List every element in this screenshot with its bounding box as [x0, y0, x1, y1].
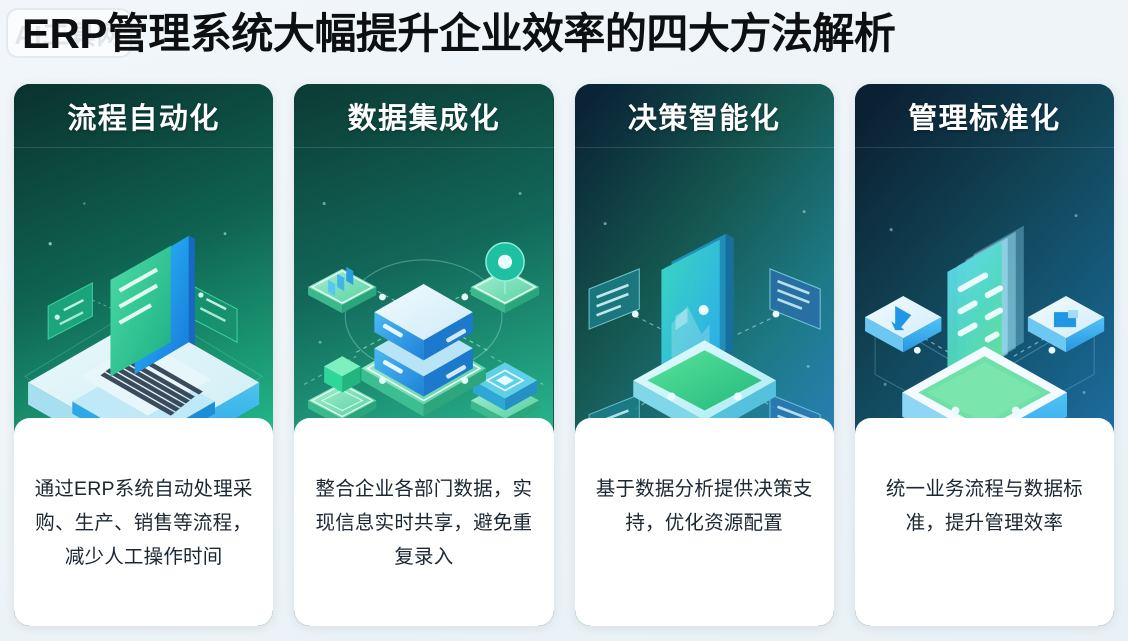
header-divider	[14, 147, 273, 148]
card-management-standardization[interactable]: 管理标准化 统一业务流程与数据标准，提升管理效率	[855, 84, 1114, 626]
card-process-automation[interactable]: 流程自动化 通过ERP系统自动处理采购、生产、销售等流程，减少人工操作时间	[14, 84, 273, 626]
card-caption: 整合企业各部门数据，实现信息实时共享，避免重复录入	[312, 472, 535, 574]
card-data-integration[interactable]: 数据集成化 整合企业各部门数据，实现信息实时共享，避免重复录入	[294, 84, 553, 626]
card-header-process-automation: 流程自动化	[14, 84, 273, 148]
caption-panel: 统一业务流程与数据标准，提升管理效率	[855, 418, 1114, 626]
card-decision-intelligence[interactable]: 决策智能化 基于数据分析提供决策支持，优化资源配置	[575, 84, 834, 626]
card-caption: 通过ERP系统自动处理采购、生产、销售等流程，减少人工操作时间	[32, 472, 255, 574]
page-title: ERP管理系统大幅提升企业效率的四大方法解析	[22, 9, 895, 59]
header-divider	[294, 147, 553, 148]
caption-panel: 通过ERP系统自动处理采购、生产、销售等流程，减少人工操作时间	[14, 418, 273, 626]
card-title: 决策智能化	[628, 95, 781, 137]
card-grid: 流程自动化 通过ERP系统自动处理采购、生产、销售等流程，减少人工操作时间	[14, 84, 1114, 626]
card-header-data-integration: 数据集成化	[294, 84, 553, 148]
caption-panel: 整合企业各部门数据，实现信息实时共享，避免重复录入	[294, 418, 553, 626]
card-title: 数据集成化	[348, 95, 501, 137]
card-title: 管理标准化	[908, 95, 1061, 137]
card-header-management-standardization: 管理标准化	[855, 84, 1114, 148]
caption-panel: 基于数据分析提供决策支持，优化资源配置	[575, 418, 834, 626]
header-divider	[575, 147, 834, 148]
card-caption: 基于数据分析提供决策支持，优化资源配置	[593, 472, 816, 540]
card-caption: 统一业务流程与数据标准，提升管理效率	[873, 472, 1096, 540]
card-header-decision-intelligence: 决策智能化	[575, 84, 834, 148]
card-title: 流程自动化	[67, 95, 220, 137]
header-divider	[855, 147, 1114, 148]
